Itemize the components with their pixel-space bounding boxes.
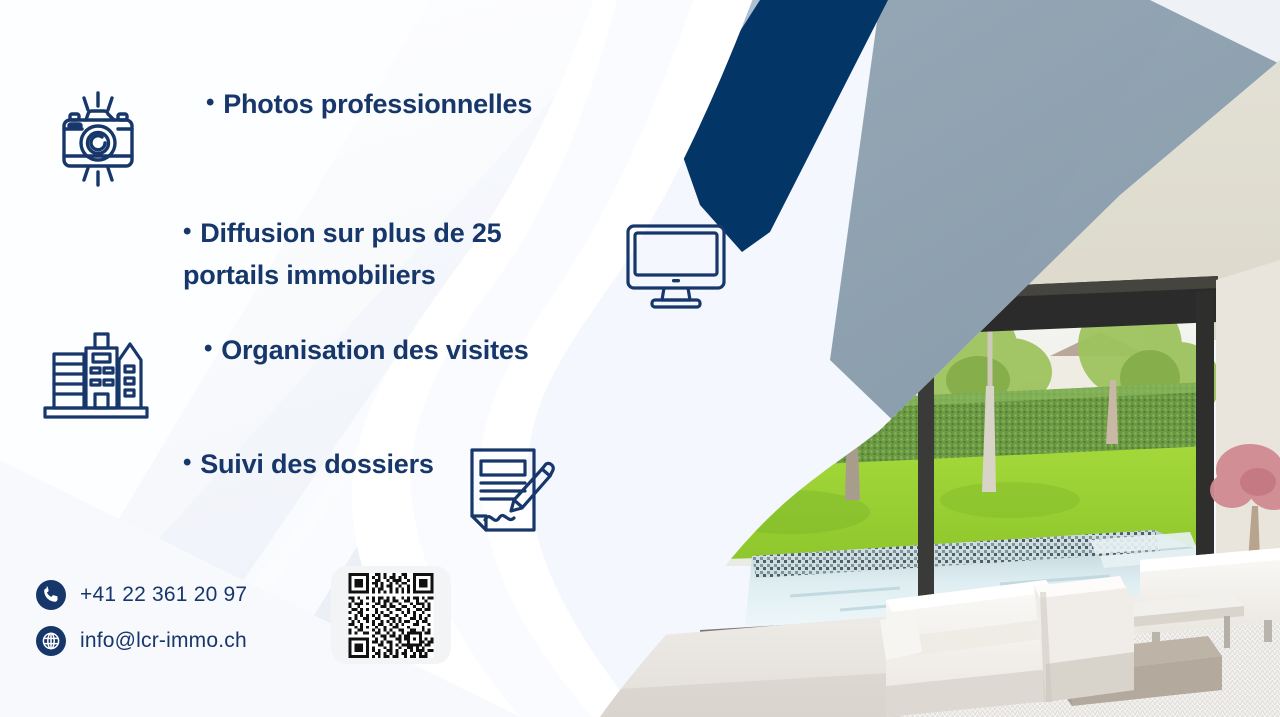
bullet-glyph: • — [204, 335, 221, 362]
monitor-icon — [622, 220, 730, 315]
contact-phone-row[interactable]: +41 22 361 20 97 — [36, 574, 247, 616]
contact-block: +41 22 361 20 97 info@lcr-immo.ch — [36, 574, 247, 662]
phone-number: +41 22 361 20 97 — [80, 583, 247, 607]
bullet-glyph: • — [206, 89, 223, 116]
feature-photos-text: Photos professionnelles — [223, 89, 532, 119]
buildings-icon — [40, 330, 152, 422]
feature-visites-label: •Organisation des visites — [204, 330, 534, 372]
contact-website-row[interactable]: info@lcr-immo.ch — [36, 620, 247, 662]
feature-diffusion-portails: •Diffusion sur plus de 25 portails immob… — [183, 213, 603, 297]
feature-visites-text: Organisation des visites — [221, 335, 528, 365]
feature-suivi-label: •Suivi des dossiers — [183, 444, 443, 486]
feature-suivi-text: Suivi des dossiers — [200, 449, 434, 479]
email-address: info@lcr-immo.ch — [80, 629, 247, 653]
bullet-glyph: • — [183, 218, 200, 245]
feature-photos-label: •Photos professionnelles — [206, 84, 536, 126]
qr-code-icon[interactable] — [347, 573, 435, 658]
feature-diffusion-text: Diffusion sur plus de 25 portails immobi… — [183, 218, 501, 290]
feature-suivi-dossiers: •Suivi des dossiers — [183, 444, 443, 486]
feature-diffusion-label: •Diffusion sur plus de 25 portails immob… — [183, 213, 603, 297]
qr-code-card[interactable] — [331, 566, 451, 664]
camera-icon — [52, 84, 144, 194]
signed-document-icon — [462, 444, 562, 545]
marketing-banner: •Photos professionnelles •Diffusion sur … — [0, 0, 1280, 717]
globe-icon — [36, 626, 66, 656]
phone-icon — [36, 580, 66, 610]
feature-organisation-visites: •Organisation des visites — [40, 330, 534, 422]
feature-photos-professionnelles: •Photos professionnelles — [52, 84, 536, 194]
bullet-glyph: • — [183, 449, 200, 476]
